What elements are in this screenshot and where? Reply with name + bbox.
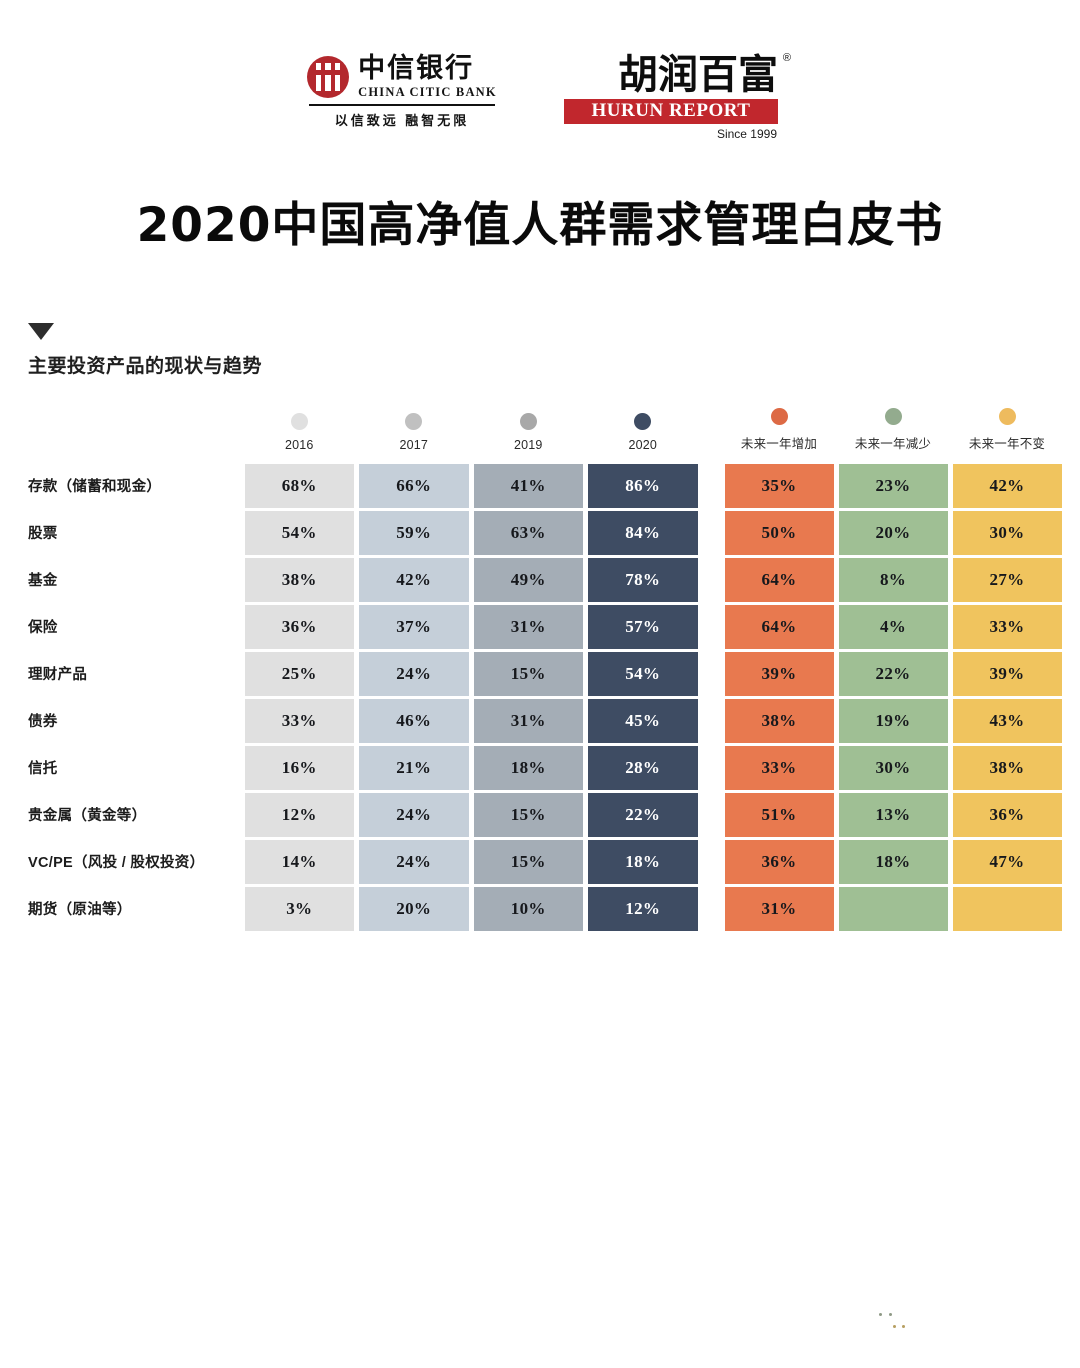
- matrix-cell: 54%: [245, 511, 355, 555]
- row-label: 理财产品: [28, 650, 242, 697]
- year-cells: 25%24%15%54%: [242, 650, 700, 697]
- matrix-cell: 43%: [953, 699, 1062, 743]
- triangle-down-icon: [28, 323, 54, 340]
- citic-divider: [309, 104, 495, 106]
- year-cells: 38%42%49%78%: [242, 556, 700, 603]
- section-title: 主要投资产品的现状与趋势: [28, 351, 1080, 378]
- column-gap: [700, 885, 722, 932]
- legend-item-unchanged[interactable]: 未来一年不变: [950, 402, 1064, 456]
- matrix-cell: 45%: [588, 699, 698, 743]
- matrix-cell: 66%: [359, 464, 469, 508]
- matrix-cell: 23%: [839, 464, 948, 508]
- matrix-cell: 16%: [245, 746, 355, 790]
- matrix-cell: 33%: [725, 746, 834, 790]
- matrix-cell: 21%: [359, 746, 469, 790]
- column-gap: [700, 744, 722, 791]
- matrix-cell: 24%: [359, 793, 469, 837]
- matrix-legend: 2016 2017 2019 2020 未来一年增加 未: [28, 402, 1080, 456]
- column-gap: [700, 509, 722, 556]
- matrix-cell: 84%: [588, 511, 698, 555]
- matrix-cell: 12%: [588, 887, 698, 931]
- legend-label-decrease: 未来一年减少: [855, 433, 931, 452]
- table-row: 保险36%37%31%57%64%4%33%: [28, 603, 1080, 650]
- trend-cells: 64%8%27%: [722, 556, 1064, 603]
- matrix-cell: 4%: [839, 605, 948, 649]
- matrix-rows: 存款（储蓄和现金）68%66%41%86%35%23%42%股票54%59%63…: [28, 462, 1080, 932]
- legend-label-2019: 2019: [514, 438, 543, 452]
- matrix-cell: 31%: [474, 605, 584, 649]
- matrix-cell: 31%: [725, 887, 834, 931]
- table-row: 贵金属（黄金等）12%24%15%22%51%13%36%: [28, 791, 1080, 838]
- matrix-cell: 41%: [474, 464, 584, 508]
- legend-label-increase: 未来一年增加: [741, 433, 817, 452]
- logo-bar: 中信银行 CHINA CITIC BANK 以信致远 融智无限 胡润百富 ® H…: [0, 0, 1080, 108]
- trend-cells: 50%20%30%: [722, 509, 1064, 556]
- matrix-cell: 42%: [953, 464, 1062, 508]
- row-label: 股票: [28, 509, 242, 556]
- matrix-cell: 12%: [245, 793, 355, 837]
- matrix-cell: 15%: [474, 793, 584, 837]
- year-cells: 3%20%10%12%: [242, 885, 700, 932]
- trend-cells: 31%: [722, 885, 1064, 932]
- trend-cells: 64%4%33%: [722, 603, 1064, 650]
- table-row: VC/PE（风投 / 股权投资）14%24%15%18%36%18%47%: [28, 838, 1080, 885]
- hurun-chinese-name: 胡润百富: [618, 52, 778, 98]
- legend-dot-increase: [771, 408, 788, 425]
- citic-chinese-name: 中信银行: [358, 55, 497, 82]
- legend-group-years: 2016 2017 2019 2020: [242, 402, 700, 456]
- matrix-cell: 18%: [839, 840, 948, 884]
- column-gap: [700, 791, 722, 838]
- watermark-text: 星云海国际: [922, 1278, 1080, 1368]
- trend-cells: 38%19%43%: [722, 697, 1064, 744]
- matrix-cell: 33%: [953, 605, 1062, 649]
- legend-item-2017[interactable]: 2017: [357, 402, 472, 456]
- legend-label-unchanged: 未来一年不变: [969, 433, 1045, 452]
- table-row: 基金38%42%49%78%64%8%27%: [28, 556, 1080, 603]
- year-cells: 33%46%31%45%: [242, 697, 700, 744]
- matrix-cell: 30%: [839, 746, 948, 790]
- table-row: 理财产品25%24%15%54%39%22%39%: [28, 650, 1080, 697]
- citic-emblem-icon: [307, 56, 349, 98]
- row-label: 期货（原油等）: [28, 885, 242, 932]
- legend-group-trends: 未来一年增加 未来一年减少 未来一年不变: [722, 402, 1064, 456]
- table-row: 存款（储蓄和现金）68%66%41%86%35%23%42%: [28, 462, 1080, 509]
- matrix-cell: 46%: [359, 699, 469, 743]
- legend-dot-unchanged: [999, 408, 1016, 425]
- trend-cells: 33%30%38%: [722, 744, 1064, 791]
- matrix-cell: 24%: [359, 840, 469, 884]
- row-label: 基金: [28, 556, 242, 603]
- page-title: 2020中国高净值人群需求管理白皮书: [0, 186, 1080, 255]
- year-cells: 16%21%18%28%: [242, 744, 700, 791]
- row-label: 债券: [28, 697, 242, 744]
- table-row: 债券33%46%31%45%38%19%43%: [28, 697, 1080, 744]
- table-row: 股票54%59%63%84%50%20%30%: [28, 509, 1080, 556]
- matrix-cell: [839, 887, 948, 931]
- matrix-cell: 64%: [725, 605, 834, 649]
- hurun-since: Since 1999: [717, 127, 777, 141]
- matrix-cell: 20%: [839, 511, 948, 555]
- hurun-english-name: HURUN REPORT: [564, 99, 778, 124]
- trend-cells: 35%23%42%: [722, 462, 1064, 509]
- row-label: 保险: [28, 603, 242, 650]
- matrix-cell: 19%: [839, 699, 948, 743]
- matrix-cell: 18%: [588, 840, 698, 884]
- year-cells: 12%24%15%22%: [242, 791, 700, 838]
- citic-bank-logo: 中信银行 CHINA CITIC BANK 以信致远 融智无限: [302, 55, 502, 129]
- matrix-cell: 37%: [359, 605, 469, 649]
- matrix-cell: 57%: [588, 605, 698, 649]
- matrix-cell: 22%: [588, 793, 698, 837]
- matrix-cell: 24%: [359, 652, 469, 696]
- matrix-cell: 33%: [245, 699, 355, 743]
- matrix-cell: 50%: [725, 511, 834, 555]
- legend-dot-decrease: [885, 408, 902, 425]
- matrix-cell: 38%: [953, 746, 1062, 790]
- year-cells: 68%66%41%86%: [242, 462, 700, 509]
- trend-cells: 36%18%47%: [722, 838, 1064, 885]
- legend-item-increase[interactable]: 未来一年增加: [722, 402, 836, 456]
- matrix-cell: 8%: [839, 558, 948, 602]
- column-gap: [700, 462, 722, 509]
- matrix-cell: 20%: [359, 887, 469, 931]
- legend-label-2017: 2017: [399, 438, 428, 452]
- column-gap: [700, 650, 722, 697]
- matrix-cell: 25%: [245, 652, 355, 696]
- investment-matrix: 2016 2017 2019 2020 未来一年增加 未: [0, 402, 1080, 932]
- matrix-cell: 27%: [953, 558, 1062, 602]
- matrix-cell: 15%: [474, 840, 584, 884]
- matrix-cell: 42%: [359, 558, 469, 602]
- matrix-cell: 86%: [588, 464, 698, 508]
- row-label: VC/PE（风投 / 股权投资）: [28, 838, 242, 885]
- matrix-cell: 31%: [474, 699, 584, 743]
- column-gap: [700, 556, 722, 603]
- column-gap: [700, 603, 722, 650]
- watermark: 星云海国际: [872, 1278, 1080, 1368]
- hurun-report-logo: 胡润百富 ® HURUN REPORT Since 1999: [546, 55, 778, 141]
- matrix-cell: 36%: [953, 793, 1062, 837]
- legend-item-decrease[interactable]: 未来一年减少: [836, 402, 950, 456]
- matrix-cell: 18%: [474, 746, 584, 790]
- legend-dot-2017: [405, 413, 422, 430]
- matrix-cell: 10%: [474, 887, 584, 931]
- matrix-cell: 49%: [474, 558, 584, 602]
- matrix-cell: 3%: [245, 887, 355, 931]
- legend-item-2019[interactable]: 2019: [471, 402, 586, 456]
- column-gap: [700, 697, 722, 744]
- legend-label-2020: 2020: [628, 438, 657, 452]
- section-header: 主要投资产品的现状与趋势: [0, 323, 1080, 378]
- matrix-cell: 36%: [725, 840, 834, 884]
- legend-gap: [700, 402, 722, 456]
- year-cells: 54%59%63%84%: [242, 509, 700, 556]
- legend-dot-2019: [520, 413, 537, 430]
- year-cells: 14%24%15%18%: [242, 838, 700, 885]
- legend-dot-2020: [634, 413, 651, 430]
- matrix-cell: 39%: [953, 652, 1062, 696]
- matrix-cell: 28%: [588, 746, 698, 790]
- matrix-cell: [953, 887, 1062, 931]
- matrix-cell: 38%: [245, 558, 355, 602]
- legend-item-2016[interactable]: 2016: [242, 402, 357, 456]
- matrix-cell: 38%: [725, 699, 834, 743]
- trend-cells: 51%13%36%: [722, 791, 1064, 838]
- table-row: 信托16%21%18%28%33%30%38%: [28, 744, 1080, 791]
- matrix-cell: 30%: [953, 511, 1062, 555]
- citic-english-name: CHINA CITIC BANK: [358, 86, 497, 99]
- column-gap: [700, 838, 722, 885]
- matrix-cell: 64%: [725, 558, 834, 602]
- year-cells: 36%37%31%57%: [242, 603, 700, 650]
- citic-slogan: 以信致远 融智无限: [335, 110, 470, 129]
- matrix-cell: 63%: [474, 511, 584, 555]
- legend-item-2020[interactable]: 2020: [586, 402, 701, 456]
- matrix-cell: 35%: [725, 464, 834, 508]
- registered-trademark-icon: ®: [783, 52, 791, 64]
- row-label: 信托: [28, 744, 242, 791]
- legend-dot-2016: [291, 413, 308, 430]
- matrix-cell: 36%: [245, 605, 355, 649]
- matrix-cell: 68%: [245, 464, 355, 508]
- matrix-cell: 22%: [839, 652, 948, 696]
- matrix-cell: 78%: [588, 558, 698, 602]
- matrix-cell: 13%: [839, 793, 948, 837]
- matrix-cell: 39%: [725, 652, 834, 696]
- matrix-cell: 51%: [725, 793, 834, 837]
- matrix-cell: 59%: [359, 511, 469, 555]
- row-label: 存款（储蓄和现金）: [28, 462, 242, 509]
- row-label: 贵金属（黄金等）: [28, 791, 242, 838]
- matrix-cell: 15%: [474, 652, 584, 696]
- matrix-cell: 47%: [953, 840, 1062, 884]
- legend-spacer: [28, 402, 242, 456]
- matrix-cell: 54%: [588, 652, 698, 696]
- matrix-cell: 14%: [245, 840, 355, 884]
- legend-label-2016: 2016: [285, 438, 314, 452]
- wechat-icon: [872, 1306, 914, 1340]
- trend-cells: 39%22%39%: [722, 650, 1064, 697]
- table-row: 期货（原油等）3%20%10%12%31%: [28, 885, 1080, 932]
